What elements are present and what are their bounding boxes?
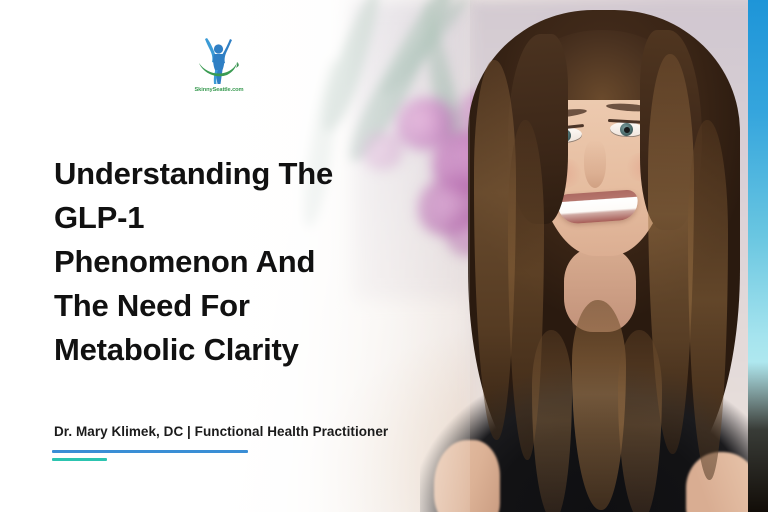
running-figure-logo-icon	[193, 32, 245, 86]
byline-rule-primary	[52, 450, 248, 453]
pupil	[624, 127, 630, 133]
brand-wordmark: SkinnySeattle.com	[188, 87, 251, 93]
headline-line-2: GLP-1	[54, 196, 414, 240]
headline-line-5: Metabolic Clarity	[54, 328, 414, 372]
accent-edge-strip-shadow	[748, 362, 768, 512]
brand-logo[interactable]: SkinnySeattle.com	[186, 32, 252, 93]
iris	[620, 123, 634, 137]
headline-line-3: Phenomenon And	[54, 240, 414, 284]
headline-line-4: The Need For	[54, 284, 414, 328]
nose	[584, 140, 606, 188]
headline-line-1: Understanding The	[54, 152, 414, 196]
page-title: Understanding The GLP-1 Phenomenon And T…	[54, 152, 414, 372]
author-byline: Dr. Mary Klimek, DC | Functional Health …	[54, 424, 388, 439]
hair-strand	[532, 330, 572, 512]
hair-strand	[618, 330, 662, 512]
blog-hero-banner: SkinnySeattle.com Understanding The GLP-…	[0, 0, 768, 512]
byline-rule-secondary	[52, 458, 107, 461]
